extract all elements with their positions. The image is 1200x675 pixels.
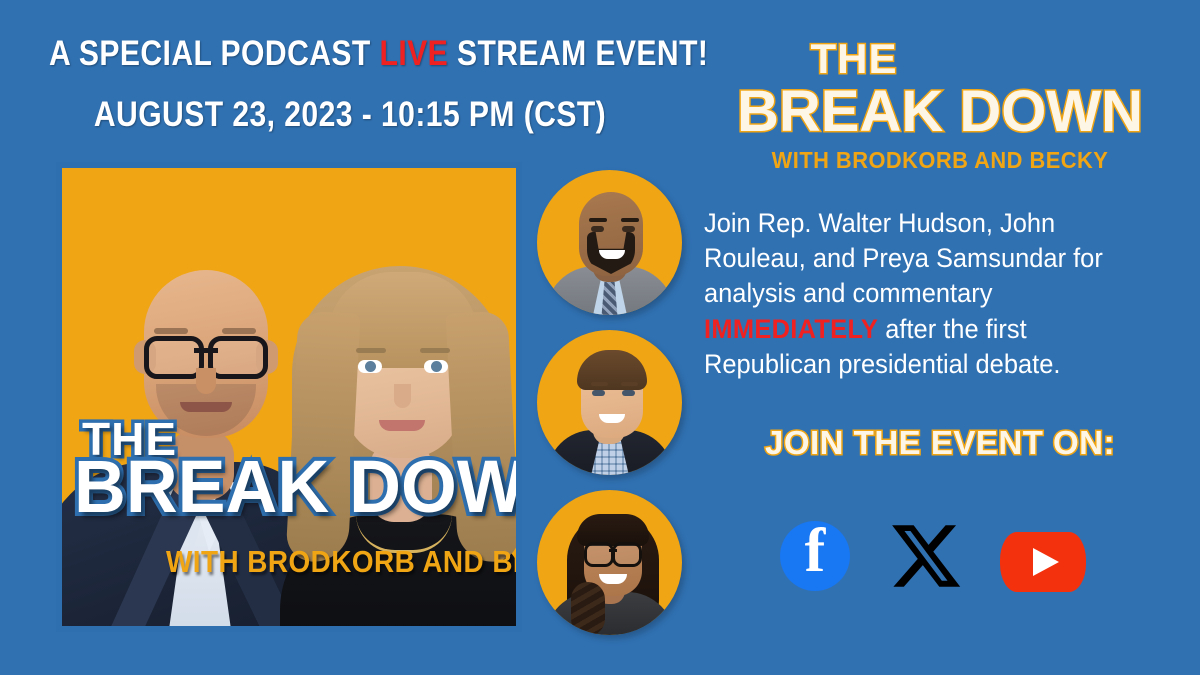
x-twitter-icon[interactable] [888,518,964,594]
logo-main: BREAK DOWN [700,82,1180,143]
event-description: Join Rep. Walter Hudson, John Rouleau, a… [704,206,1155,382]
headline-datetime: AUGUST 23, 2023 - 10:15 PM (CST) [49,97,651,132]
cover-title-main: BREAK DOWN [74,450,522,524]
youtube-icon[interactable] [1000,532,1086,592]
host-becky-brow-right [420,348,450,353]
host-becky-nose [394,384,411,408]
guest1-brow-left [589,218,607,222]
host-brodkorb-nose [196,368,216,394]
guest2-brow-left [591,382,608,386]
podcast-cover-art: THE BREAK DOWN WITH BRODKORB AND BECKY [56,162,522,632]
description-part1: Join Rep. Walter Hudson, John Rouleau, a… [704,208,1103,308]
host-brodkorb-brow-right [222,328,256,334]
host-brodkorb-brow-left [154,328,188,334]
host-becky-eye-left [358,360,382,373]
guest2-eye-right [622,390,635,396]
join-event-label: JOIN THE EVENT ON: [700,424,1180,462]
guest1-brow-right [621,218,639,222]
headline-live-badge: LIVE [380,34,449,73]
eyeglasses-icon [584,542,642,562]
eyeglasses-icon [142,336,270,370]
host-becky-eye-right [424,360,448,373]
guest2-brow-right [621,382,638,386]
description-immediately: IMMEDIATELY [704,314,878,344]
guest-headshot-preya-samsundar [537,490,682,635]
host-becky-brow-left [356,348,386,353]
logo-subtitle: WITH BRODKORB AND BECKY [712,149,1168,172]
guest-headshot-walter-hudson [537,170,682,315]
guest3-curls [571,582,605,635]
social-links: f [700,518,1180,604]
play-triangle-icon [1033,548,1059,576]
facebook-glyph: f [780,516,850,586]
facebook-icon[interactable]: f [780,521,850,591]
cover-subtitle: WITH BRODKORB AND BECKY [166,546,522,577]
guest2-eye-left [592,390,605,396]
guest-headshot-john-rouleau [537,330,682,475]
x-logo-svg [888,518,964,594]
host-brodkorb-mouth [180,402,232,412]
guest1-eye-left [591,226,604,232]
host-becky-mouth [379,420,425,431]
show-logo: THE BREAK DOWN WITH BRODKORB AND BECKY [700,38,1180,172]
logo-the: THE [528,38,1180,80]
poster-canvas: A SPECIAL PODCAST LIVE STREAM EVENT! AUG… [0,0,1200,675]
guest1-eye-right [622,226,635,232]
headline-line1-before: A SPECIAL PODCAST [49,34,380,73]
